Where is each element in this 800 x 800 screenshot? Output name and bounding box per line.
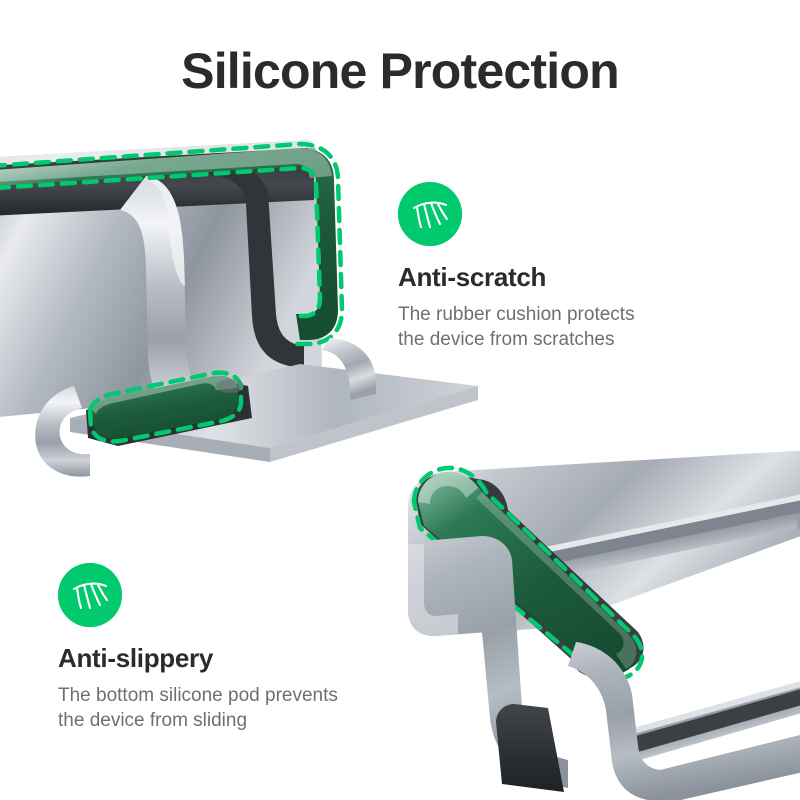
feature-description: The bottom silicone pod prevents the dev… bbox=[58, 683, 358, 734]
scratch-marks-icon bbox=[58, 563, 122, 627]
feature-anti-scratch: Anti-scratch The rubber cushion protects… bbox=[398, 182, 688, 353]
scratch-marks-icon bbox=[398, 182, 462, 246]
feature-description: The rubber cushion protects the device f… bbox=[398, 302, 688, 353]
stand-hinge-nub bbox=[216, 379, 244, 393]
page-title: Silicone Protection bbox=[0, 44, 800, 99]
feature-anti-slippery: Anti-slippery The bottom silicone pod pr… bbox=[58, 563, 358, 734]
feature-heading: Anti-scratch bbox=[398, 262, 688, 293]
product-feature-graphic: EN bbox=[0, 0, 800, 800]
feature-heading: Anti-slippery bbox=[58, 643, 358, 674]
product-image-stand-corner bbox=[372, 440, 800, 800]
leg-dark-panel bbox=[496, 704, 564, 792]
